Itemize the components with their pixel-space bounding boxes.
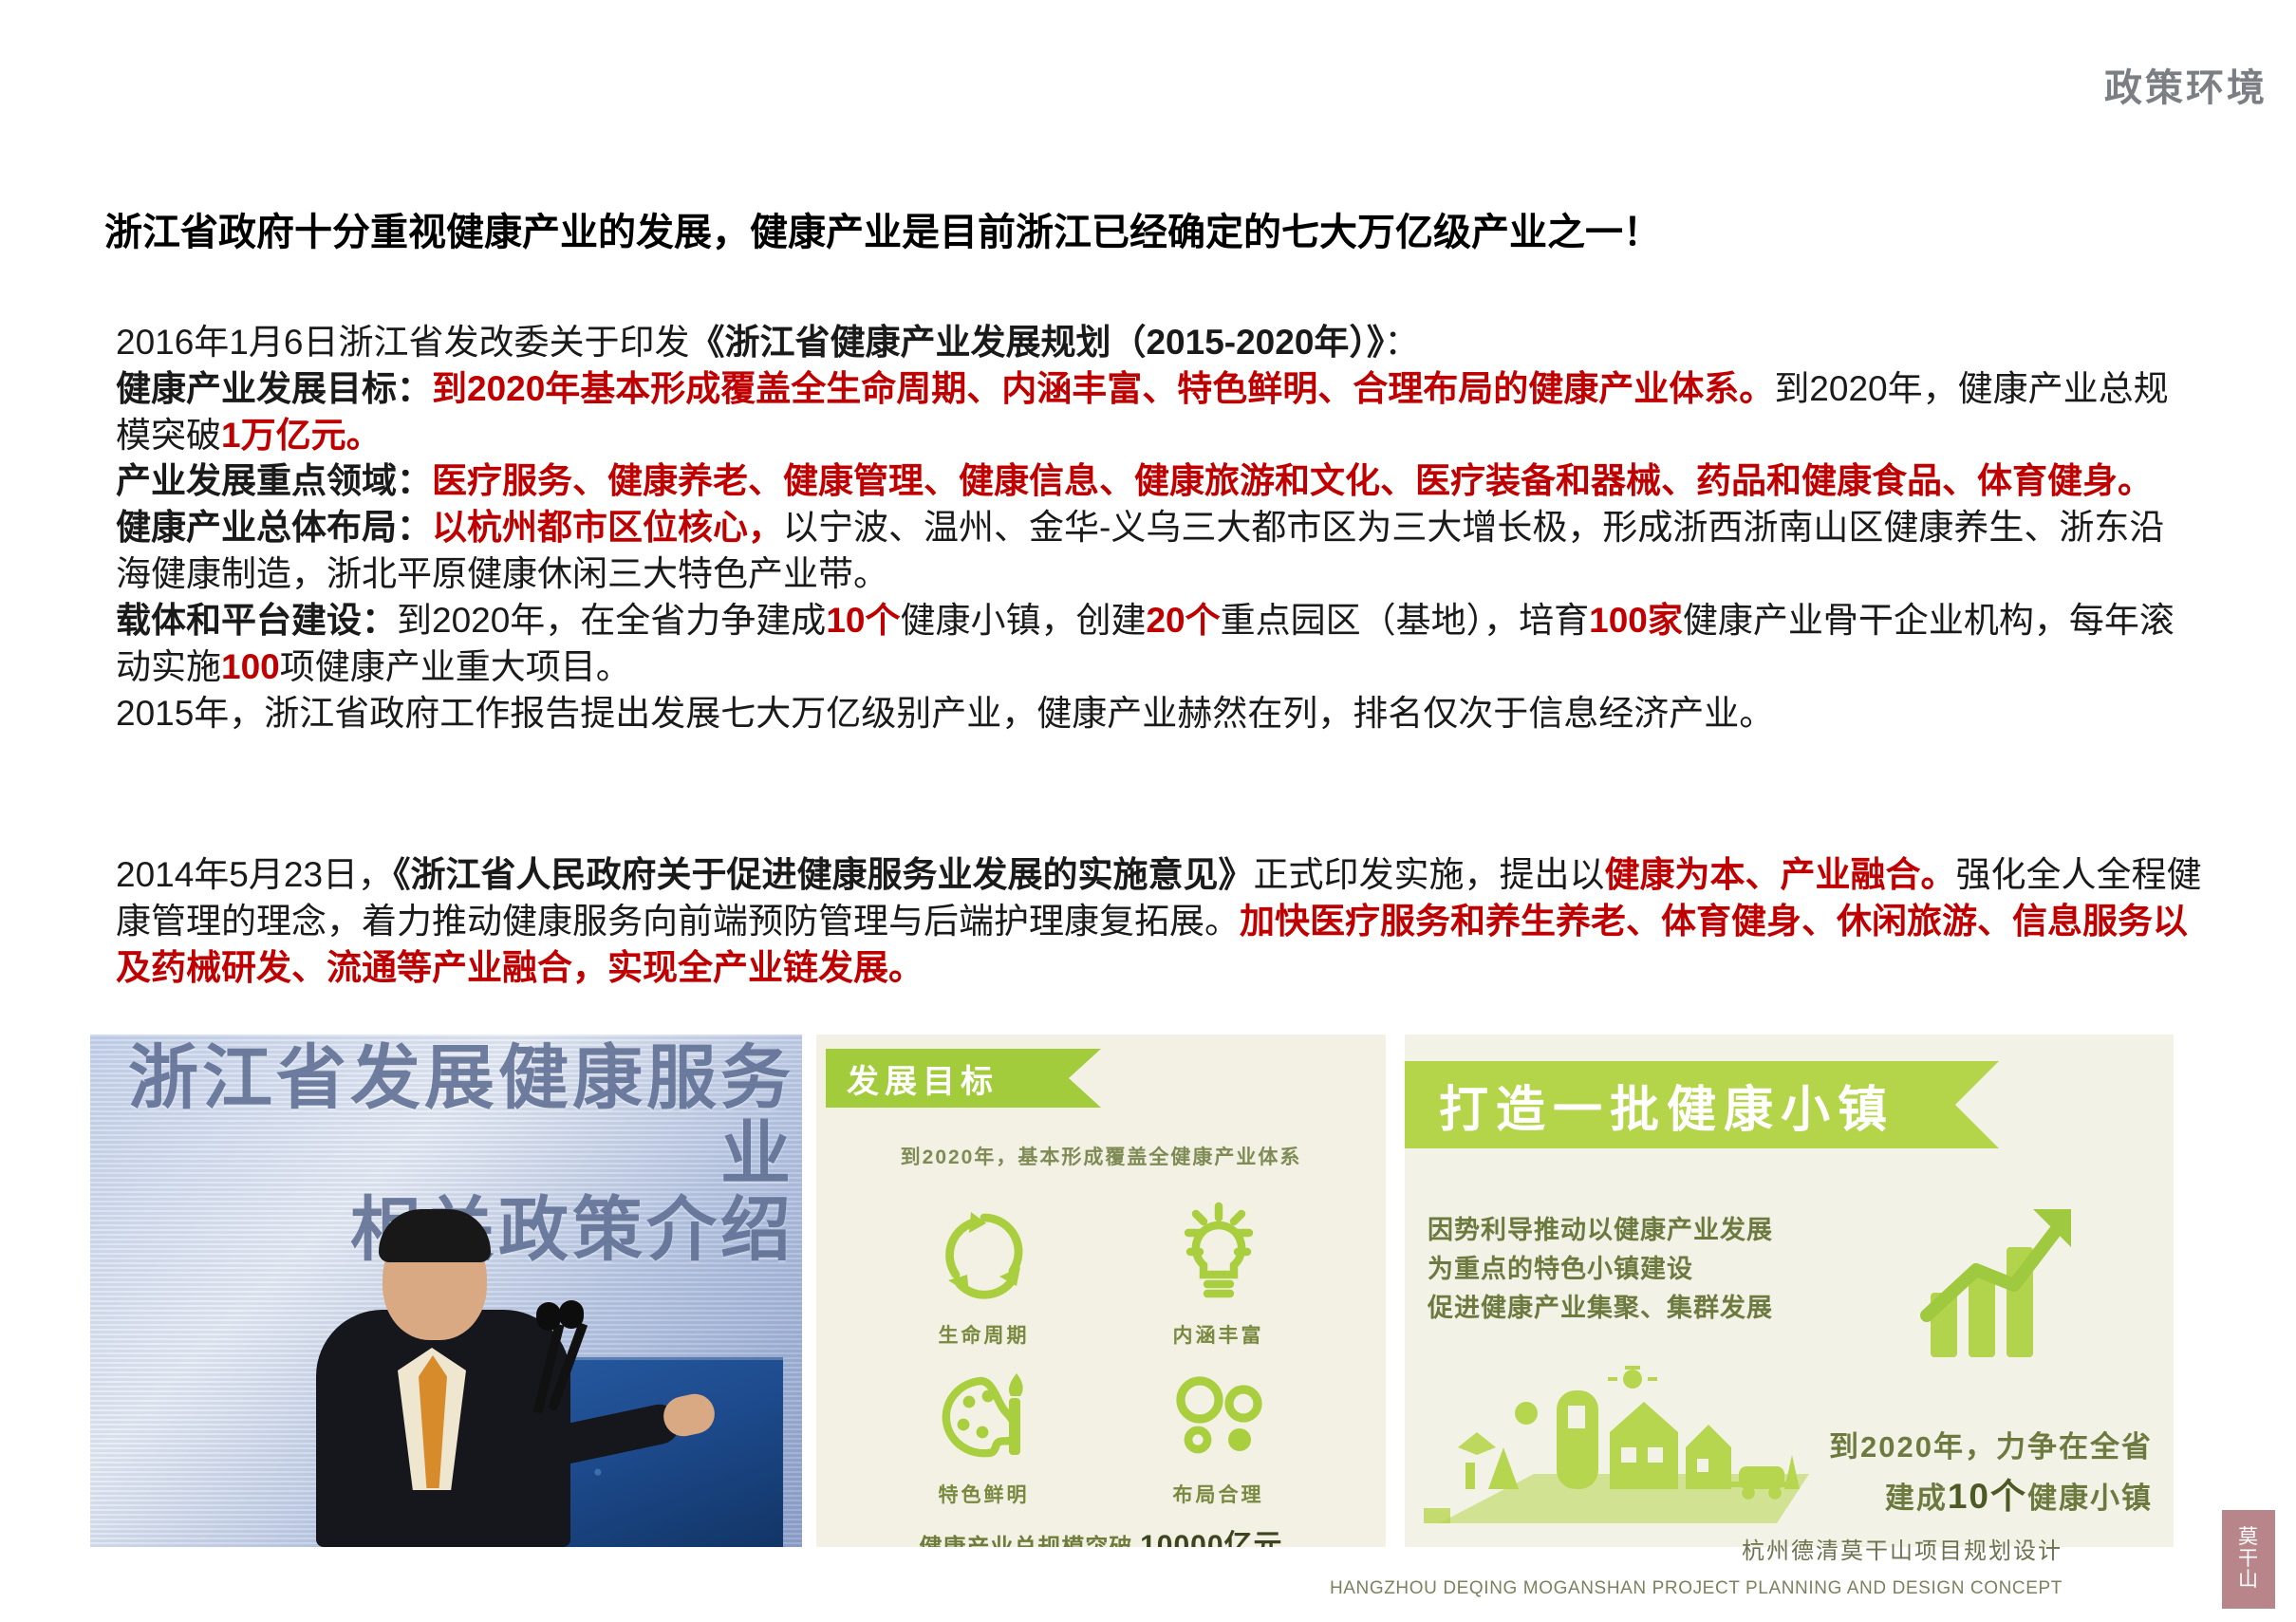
p2-label: 健康产业发展目标：	[116, 369, 432, 408]
p5-number-enterprises: 100家	[1589, 601, 1683, 640]
p7-doc-title: 《浙江省人民政府关于促进健康服务业发展的实施意见》	[393, 855, 1254, 894]
goal-label-lifecycle: 生命周期	[871, 1320, 1096, 1349]
p5-text-e: 项健康产业重大项目。	[280, 647, 631, 686]
p2-highlight: 到2020年基本形成覆盖全生命周期、内涵丰富、特色鲜明、合理布局的健康产业体系。	[432, 369, 1774, 408]
towns-tagline-value: 10个	[1948, 1477, 2027, 1516]
towns-tagline-line-1: 到2020年，力争在全省	[1829, 1426, 2153, 1470]
p7-highlight-1: 健康为本、产业融合。	[1605, 855, 1956, 894]
infographic-development-goal: 发展目标 到2020年，基本形成覆盖全健康产业体系	[816, 1035, 1386, 1547]
towns-tagline-line-2: 建成10个健康小镇	[1829, 1470, 2153, 1523]
p1-doc-title: 《浙江省健康产业发展规划（2015-2020年）》	[689, 323, 1384, 362]
palette-brush-icon	[922, 1354, 1047, 1476]
village-houses-icon	[1420, 1356, 1828, 1537]
goal-item-rich-connotation: 内涵丰富	[1106, 1195, 1331, 1349]
ribbon-banner-goal: 发展目标	[826, 1049, 1069, 1108]
section-tag-policy-environment: 政策环境	[2104, 57, 2268, 112]
led-screen-line-1: 浙江省发展健康服务业	[128, 1038, 794, 1193]
p7-text-b: 正式印发实施，提出以	[1254, 855, 1605, 894]
microphone-head-2	[559, 1300, 584, 1329]
goal-label-reasonable-layout: 布局合理	[1106, 1480, 1331, 1508]
moganshan-logo-badge: 莫 干 山	[2222, 1510, 2275, 1609]
ribbon-label-towns: 打造一批健康小镇	[1405, 1070, 1895, 1141]
towns-body-line-1: 因势利导推动以健康产业发展	[1428, 1211, 1773, 1250]
logo-char-1: 莫	[2238, 1527, 2259, 1549]
village-silhouette-graphic	[1420, 1356, 1828, 1541]
p1-text-b: ：	[1384, 323, 1419, 362]
p5-text-a: 到2020年，在全省力争建成	[397, 601, 826, 640]
infographic-health-towns: 打造一批健康小镇 因势利导推动以健康产业发展 为重点的特色小镇建设 促进健康产业…	[1405, 1035, 2174, 1547]
paragraph-key-fields: 产业发展重点领域：医疗服务、健康养老、健康管理、健康信息、健康旅游和文化、医疗装…	[116, 458, 2194, 505]
goal-item-distinct-features: 特色鲜明	[871, 1354, 1096, 1508]
logo-char-2: 干	[2238, 1549, 2259, 1571]
p5-text-c: 重点园区（基地），培育	[1221, 601, 1590, 640]
goal-footer-text: 健康产业总规模突破	[919, 1535, 1132, 1547]
speaker-hair	[379, 1209, 491, 1262]
paragraph-overall-layout: 健康产业总体布局：以杭州都市区位核心，以宁波、温州、金华-义乌三大都市区为三大增…	[116, 505, 2194, 598]
lightbulb-icon	[1156, 1195, 1281, 1316]
goal-caption: 到2020年，基本形成覆盖全健康产业体系	[816, 1142, 1386, 1170]
goal-footer-value: 10000亿元	[1140, 1530, 1282, 1547]
page-title: 浙江省政府十分重视健康产业的发展，健康产业是目前浙江已经确定的七大万亿级产业之一…	[104, 201, 1661, 256]
footer-title-cn: 杭州德清莫干山项目规划设计	[1742, 1532, 2063, 1565]
goal-label-rich-connotation: 内涵丰富	[1106, 1320, 1331, 1349]
conference-photo: 浙江省发展健康服务业 相关政策介绍	[90, 1035, 802, 1547]
policy-body-block-1: 2016年1月6日浙江省发改委关于印发《浙江省健康产业发展规划（2015-202…	[116, 320, 2194, 736]
paragraph-platform-construction: 载体和平台建设：到2020年，在全省力争建成10个健康小镇，创建20个重点园区（…	[116, 598, 2194, 691]
towns-tagline-prefix: 建成	[1885, 1482, 1948, 1515]
p7-text-a: 2014年5月23日，	[116, 855, 393, 894]
towns-tagline: 到2020年，力争在全省 建成10个健康小镇	[1829, 1426, 2153, 1522]
footer-title-en: HANGZHOU DEQING MOGANSHAN PROJECT PLANNI…	[1330, 1578, 2063, 1599]
paragraph-development-goal: 健康产业发展目标：到2020年基本形成覆盖全生命周期、内涵丰富、特色鲜明、合理布…	[116, 366, 2194, 459]
towns-body-text: 因势利导推动以健康产业发展 为重点的特色小镇建设 促进健康产业集聚、集群发展	[1428, 1211, 1773, 1328]
ribbon-banner-towns: 打造一批健康小镇	[1405, 1061, 1955, 1148]
p3-label: 产业发展重点领域：	[116, 461, 432, 500]
growth-chart-graphic	[1896, 1194, 2086, 1370]
goal-item-lifecycle: 生命周期	[871, 1195, 1096, 1349]
p5-text-b: 健康小镇，创建	[900, 601, 1146, 640]
logo-char-3: 山	[2238, 1570, 2259, 1592]
microphone-head-1	[536, 1302, 561, 1331]
slide-root: 政策环境 浙江省政府十分重视健康产业的发展，健康产业是目前浙江已经确定的七大万亿…	[0, 0, 2296, 1622]
p4-highlight: 以杭州都市区位核心，	[432, 508, 783, 547]
paragraph-2014-opinion: 2014年5月23日，《浙江省人民政府关于促进健康服务业发展的实施意见》正式印发…	[116, 852, 2204, 991]
goal-item-reasonable-layout: 布局合理	[1106, 1354, 1331, 1508]
bar-chart-arrow-icon	[1896, 1194, 2086, 1365]
towns-tagline-suffix: 健康小镇	[2027, 1482, 2153, 1515]
paragraph-2015-report: 2015年，浙江省政府工作报告提出发展七大万亿级别产业，健康产业赫然在列，排名仅…	[116, 691, 2194, 737]
speaker-figure	[291, 1205, 605, 1547]
towns-body-line-3: 促进健康产业集聚、集群发展	[1428, 1289, 1773, 1328]
goal-icon-grid: 生命周期 内涵丰富	[816, 1170, 1386, 1508]
p5-label: 载体和平台建设：	[116, 601, 397, 640]
p4-label: 健康产业总体布局：	[116, 508, 432, 547]
p3-highlight: 医疗服务、健康养老、健康管理、健康信息、健康旅游和文化、医疗装备和器械、药品和健…	[432, 461, 2153, 500]
p2-highlight-2: 1万亿元。	[221, 416, 382, 455]
towns-body-line-2: 为重点的特色小镇建设	[1428, 1250, 1773, 1289]
p5-number-projects: 100	[221, 647, 280, 686]
p1-text-a: 2016年1月6日浙江省发改委关于印发	[116, 323, 689, 362]
p5-number-towns: 10个	[826, 601, 900, 640]
paragraph-2016-plan: 2016年1月6日浙江省发改委关于印发《浙江省健康产业发展规划（2015-202…	[116, 320, 2194, 366]
p5-number-parks: 20个	[1146, 601, 1220, 640]
policy-body-block-2: 2014年5月23日，《浙江省人民政府关于促进健康服务业发展的实施意见》正式印发…	[116, 852, 2204, 991]
ribbon-label-goal: 发展目标	[826, 1055, 999, 1102]
goal-label-distinct-features: 特色鲜明	[871, 1480, 1096, 1508]
circles-layout-icon	[1156, 1354, 1281, 1476]
recycle-cycle-icon	[922, 1195, 1047, 1316]
goal-footer-line: 健康产业总规模突破 10000亿元	[816, 1521, 1386, 1547]
